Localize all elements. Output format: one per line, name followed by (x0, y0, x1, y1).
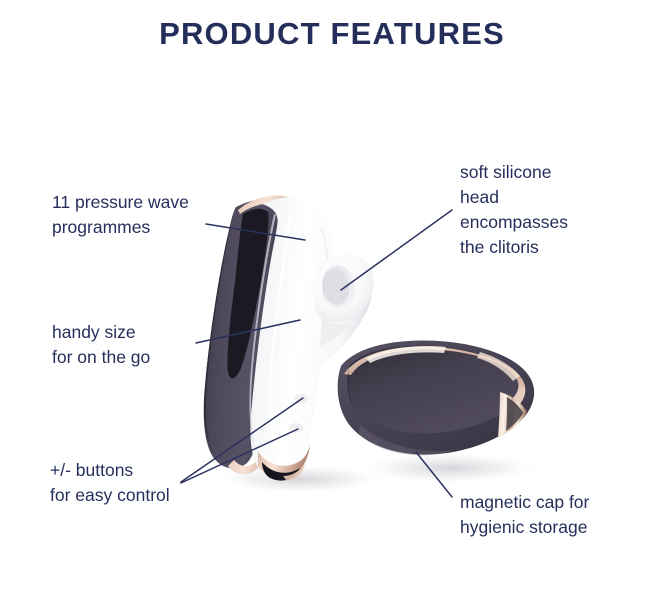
leader-programmes (206, 224, 305, 240)
leader-buttons-lower (181, 429, 298, 483)
leader-magnetic-cap (416, 452, 452, 497)
leader-silicone-head (341, 210, 452, 290)
minus-button-indent (289, 423, 303, 433)
callout-plus-minus-buttons: +/- buttons for easy control (50, 458, 170, 508)
leader-buttons-upper (181, 398, 303, 482)
page-title: PRODUCT FEATURES (0, 16, 664, 52)
callout-handy-size: handy size for on the go (52, 320, 150, 370)
cap-ground-shadow (358, 452, 542, 484)
nozzle-opening (319, 263, 359, 312)
callout-pressure-wave-programmes: 11 pressure wave programmes (52, 190, 189, 240)
wand-ground-shadow (214, 464, 386, 494)
leader-lines (181, 210, 452, 497)
infographic-canvas: PRODUCT FEATURES (0, 0, 664, 589)
callout-soft-silicone-head: soft silicone head encompasses the clito… (460, 160, 568, 259)
callout-magnetic-cap: magnetic cap for hygienic storage (460, 490, 589, 540)
leader-handy-size (196, 320, 300, 343)
plus-button-indent (294, 394, 308, 404)
pressure-wave-wand (204, 196, 374, 481)
magnetic-cap (338, 340, 535, 455)
